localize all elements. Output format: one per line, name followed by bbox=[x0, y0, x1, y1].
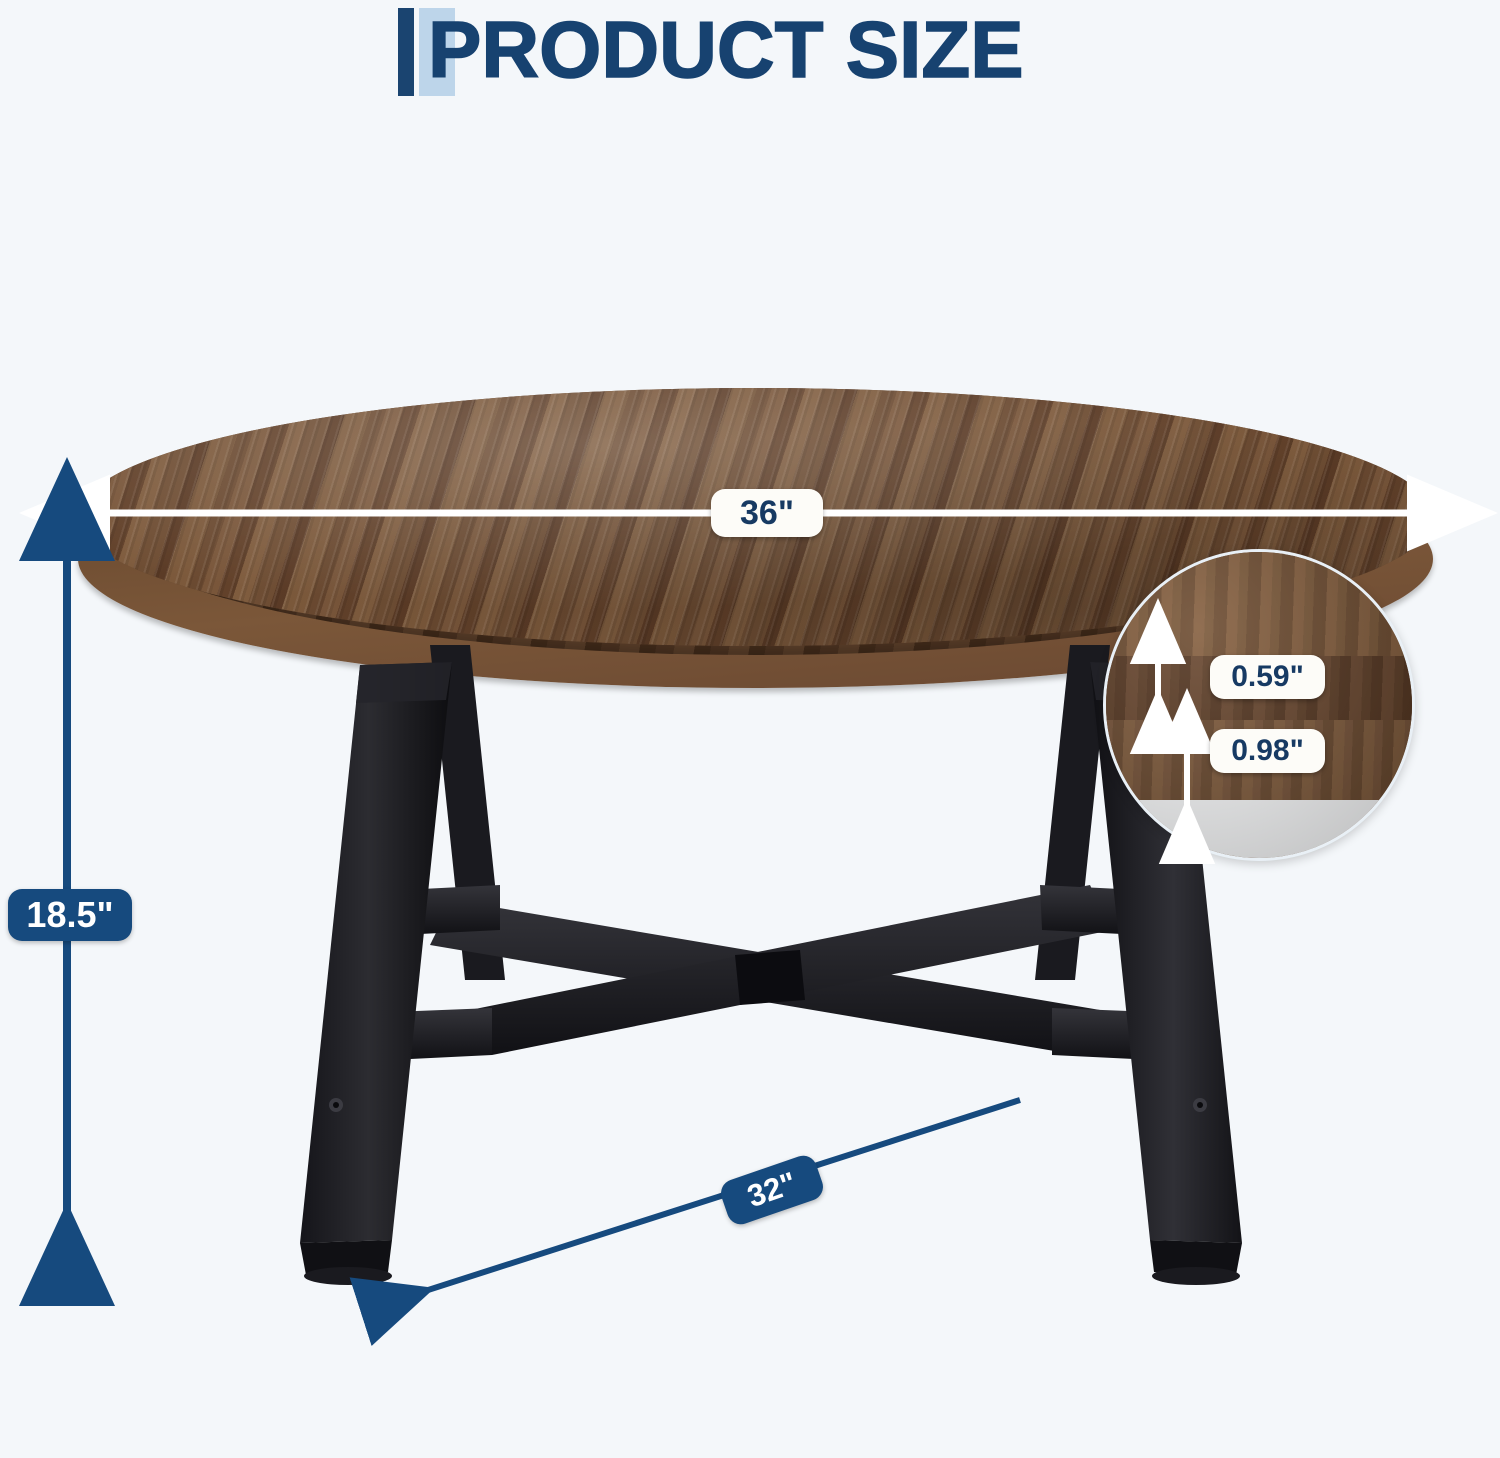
dimension-label-height: 18.5" bbox=[8, 889, 132, 941]
thickness-dimension-arrows bbox=[1158, 655, 1187, 855]
dimension-label-edge-depth: 0.98" bbox=[1210, 729, 1325, 773]
base-span-dimension-arrow bbox=[372, 1100, 1020, 1308]
dimension-label-top-thickness: 0.59" bbox=[1210, 655, 1325, 699]
product-size-infographic: PRODUCT SIZE bbox=[0, 0, 1500, 1458]
dimension-label-diameter: 36" bbox=[711, 489, 823, 537]
